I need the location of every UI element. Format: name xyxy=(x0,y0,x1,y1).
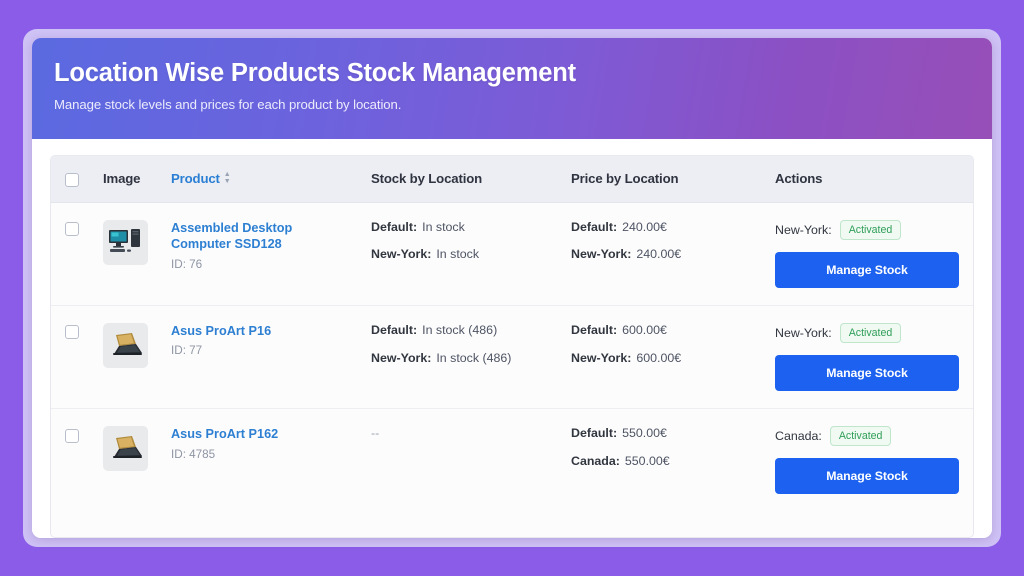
stock-location-label: New-York: xyxy=(371,351,431,365)
card-header: Location Wise Products Stock Management … xyxy=(32,38,992,139)
table-row: Asus ProArt P16 ID: 77 Default:In stock … xyxy=(51,305,973,408)
price-location-label: Canada: xyxy=(571,454,620,468)
select-all-checkbox[interactable] xyxy=(65,173,79,187)
stock-empty-placeholder: -- xyxy=(371,426,379,440)
stock-value: In stock xyxy=(436,247,479,261)
product-name-link[interactable]: Asus ProArt P16 xyxy=(171,323,351,340)
price-entry: Default:240.00€ xyxy=(571,220,771,235)
price-entry: Default:550.00€ xyxy=(571,426,771,441)
product-id: ID: 76 xyxy=(171,258,367,271)
price-location-label: Default: xyxy=(571,220,617,234)
row-checkbox[interactable] xyxy=(65,222,79,236)
manage-stock-button[interactable]: Manage Stock xyxy=(775,355,959,391)
stock-entry: Default:In stock (486) xyxy=(371,323,567,338)
row-image-cell xyxy=(95,408,167,511)
header-select-all xyxy=(51,156,95,202)
price-location-label: Default: xyxy=(571,426,617,440)
row-product-cell: Asus ProArt P16 ID: 77 xyxy=(167,305,367,408)
product-name-link[interactable]: Asus ProArt P162 xyxy=(171,426,351,443)
price-entry: Default:600.00€ xyxy=(571,323,771,338)
row-image-cell xyxy=(95,305,167,408)
stock-location-label: Default: xyxy=(371,220,417,234)
row-checkbox[interactable] xyxy=(65,429,79,443)
table-container: Image Product ▲▼ Stock by Location xyxy=(32,139,992,538)
price-value: 600.00€ xyxy=(622,323,667,337)
activation-status-row: New-York: Activated xyxy=(775,220,973,240)
manage-stock-button[interactable]: Manage Stock xyxy=(775,252,959,288)
stock-value: In stock (486) xyxy=(422,323,497,337)
row-image-cell xyxy=(95,202,167,305)
page-frame: Location Wise Products Stock Management … xyxy=(23,29,1001,547)
price-location-label: Default: xyxy=(571,323,617,337)
header-actions: Actions xyxy=(771,156,973,202)
status-badge: Activated xyxy=(830,426,892,446)
activation-status-row: New-York: Activated xyxy=(775,323,973,343)
row-price-cell: Default:240.00€ New-York:240.00€ xyxy=(567,202,771,305)
status-badge: Activated xyxy=(840,220,902,240)
row-select-cell xyxy=(51,408,95,511)
table-head: Image Product ▲▼ Stock by Location xyxy=(51,156,973,202)
stock-location-label: Default: xyxy=(371,323,417,337)
price-entry: Canada:550.00€ xyxy=(571,454,771,469)
row-stock-cell: -- xyxy=(367,408,567,511)
row-select-cell xyxy=(51,202,95,305)
price-value: 600.00€ xyxy=(636,351,681,365)
header-price-by-location: Price by Location xyxy=(567,156,771,202)
header-image: Image xyxy=(95,156,167,202)
price-location-label: New-York: xyxy=(571,351,631,365)
action-location-label: New-York: xyxy=(775,326,832,340)
row-select-cell xyxy=(51,305,95,408)
price-value: 240.00€ xyxy=(622,220,667,234)
page-title: Location Wise Products Stock Management xyxy=(54,59,992,88)
table-body: Assembled Desktop Computer SSD128 ID: 76… xyxy=(51,202,973,511)
action-location-label: Canada: xyxy=(775,429,822,443)
action-location-label: New-York: xyxy=(775,223,832,237)
sort-ascending-descending-icon: ▲▼ xyxy=(224,172,231,185)
price-entry: New-York:240.00€ xyxy=(571,247,771,262)
row-stock-cell: Default:In stock (486) New-York:In stock… xyxy=(367,305,567,408)
header-product: Product ▲▼ xyxy=(167,156,367,202)
table-border: Image Product ▲▼ Stock by Location xyxy=(50,155,974,538)
product-id: ID: 77 xyxy=(171,344,367,357)
product-name-link[interactable]: Assembled Desktop Computer SSD128 xyxy=(171,220,351,254)
stock-entry: Default:In stock xyxy=(371,220,567,235)
row-product-cell: Asus ProArt P162 ID: 4785 xyxy=(167,408,367,511)
products-table: Image Product ▲▼ Stock by Location xyxy=(51,156,973,511)
row-product-cell: Assembled Desktop Computer SSD128 ID: 76 xyxy=(167,202,367,305)
product-sort-toggle[interactable]: Product ▲▼ xyxy=(171,171,231,186)
price-value: 240.00€ xyxy=(636,247,681,261)
stock-entry: New-York:In stock (486) xyxy=(371,351,567,366)
price-location-label: New-York: xyxy=(571,247,631,261)
stock-value: In stock (486) xyxy=(436,351,511,365)
stock-value: In stock xyxy=(422,220,465,234)
price-entry: New-York:600.00€ xyxy=(571,351,771,366)
header-product-label: Product xyxy=(171,171,220,186)
manage-stock-button[interactable]: Manage Stock xyxy=(775,458,959,494)
row-checkbox[interactable] xyxy=(65,325,79,339)
stock-management-card: Location Wise Products Stock Management … xyxy=(32,38,992,538)
stock-location-label: New-York: xyxy=(371,247,431,261)
row-actions-cell: Canada: Activated Manage Stock xyxy=(771,408,973,511)
price-value: 550.00€ xyxy=(625,454,670,468)
table-row: Asus ProArt P162 ID: 4785 -- Default:550… xyxy=(51,408,973,511)
desktop-computer-icon xyxy=(103,220,148,265)
table-row: Assembled Desktop Computer SSD128 ID: 76… xyxy=(51,202,973,305)
row-actions-cell: New-York: Activated Manage Stock xyxy=(771,305,973,408)
page-subtitle: Manage stock levels and prices for each … xyxy=(54,97,992,112)
status-badge: Activated xyxy=(840,323,902,343)
row-actions-cell: New-York: Activated Manage Stock xyxy=(771,202,973,305)
header-stock-by-location: Stock by Location xyxy=(367,156,567,202)
table-header-row: Image Product ▲▼ Stock by Location xyxy=(51,156,973,202)
row-price-cell: Default:550.00€ Canada:550.00€ xyxy=(567,408,771,511)
laptop-icon xyxy=(103,426,148,471)
product-id: ID: 4785 xyxy=(171,448,367,461)
row-stock-cell: Default:In stock New-York:In stock xyxy=(367,202,567,305)
price-value: 550.00€ xyxy=(622,426,667,440)
row-price-cell: Default:600.00€ New-York:600.00€ xyxy=(567,305,771,408)
laptop-icon xyxy=(103,323,148,368)
stock-entry: New-York:In stock xyxy=(371,247,567,262)
activation-status-row: Canada: Activated xyxy=(775,426,973,446)
